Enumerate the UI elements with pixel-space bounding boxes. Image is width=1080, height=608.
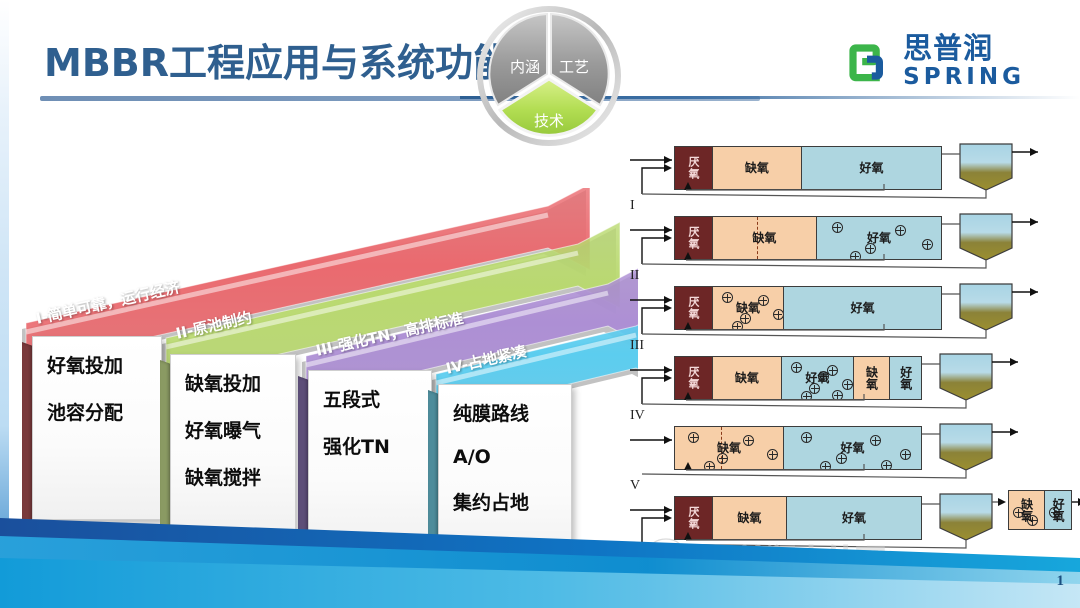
reactor-zone-label: 好氧 [841, 442, 865, 454]
process-row-label: I [630, 198, 635, 214]
reactor-zone-aerobic[interactable]: 好氧 [890, 357, 921, 399]
mbbr-carrier-icon [801, 432, 812, 443]
reactor-zone-label: 缺氧 [745, 162, 769, 174]
mbbr-carrier-icon [743, 435, 754, 446]
card-item: 强化TN [323, 432, 431, 459]
reactor-zone-label: 缺氧 [752, 232, 776, 244]
mbbr-carrier-icon [820, 461, 831, 469]
reactor-zone-anaerobic[interactable]: 厌氧 [675, 357, 713, 399]
mbbr-carrier-icon [773, 309, 784, 320]
reactor-train[interactable]: 厌氧缺氧好氧 [674, 146, 942, 190]
card-item: 池容分配 [47, 398, 161, 425]
mbbr-carrier-icon [688, 432, 699, 443]
mbbr-carrier-icon [732, 321, 743, 329]
spring-logo-icon [843, 38, 891, 86]
mbbr-carrier-icon [922, 239, 933, 250]
reactor-zone-label: 厌氧 [688, 226, 699, 250]
process-row-label: III [630, 338, 644, 354]
process-row-ii: II厌氧缺氧好氧 [628, 272, 1080, 334]
card-item: 缺氧搅拌 [185, 463, 295, 490]
reactor-train[interactable]: 厌氧缺氧好氧 [674, 286, 942, 330]
three-segment-pie-logo: 内涵 工艺 技术 [477, 6, 622, 146]
reactor-zone-anaerobic[interactable]: 厌氧 [675, 217, 713, 259]
mbbr-carrier-icon [900, 449, 911, 460]
mbbr-carrier-icon [832, 222, 843, 233]
reactor-zone-label: 厌氧 [688, 506, 699, 530]
pie-segment-label-neihan: 内涵 [510, 58, 540, 76]
reactor-train[interactable]: 厌氧缺氧好氧 [674, 216, 942, 260]
reactor-zone-anoxic[interactable]: 缺氧 [854, 357, 891, 399]
reactor-zone-label: 好氧 [842, 512, 866, 524]
mbbr-carrier-icon [801, 391, 812, 399]
mbbr-carrier-icon [881, 460, 892, 469]
process-row-iv: IV缺氧好氧 [628, 412, 1080, 474]
card-item: 五段式 [323, 385, 431, 412]
arrow-strategy-group: I-简单可靠，运行经济II-原池制约III-强化TN，高排标准IV-占地紧凑 好… [18, 188, 638, 538]
reactor-zone-anoxic[interactable]: 缺氧 [713, 147, 802, 189]
reactor-zone-aerobic[interactable]: 好氧 [817, 217, 941, 259]
reactor-zone-label: 厌氧 [688, 366, 699, 390]
brand-logo: 思普润 SPRING [843, 34, 1025, 89]
card-item: A/O [453, 446, 571, 468]
reactor-zone-label: 缺氧 [717, 442, 741, 454]
brand-name-en: SPRING [903, 66, 1025, 89]
reactor-zone-label: 好氧 [867, 232, 891, 244]
card-item: 纯膜路线 [453, 399, 571, 426]
reactor-zone-label: 好氧 [860, 162, 884, 174]
reactor-zone-label: 好氧 [900, 366, 912, 390]
process-row-label: IV [630, 408, 645, 424]
reactor-zone-label: 好氧 [805, 372, 829, 384]
reactor-zone-anoxic[interactable]: 缺氧 [675, 427, 784, 469]
reactor-train[interactable]: 缺氧好氧 [674, 426, 922, 470]
page-title: MBBR工程应用与系统功能 [44, 32, 511, 87]
process-row-i: I厌氧缺氧好氧 [628, 202, 1080, 264]
post-unit-label: 好氧 [1052, 498, 1064, 522]
process-row-base: 厌氧缺氧好氧 [628, 132, 1080, 194]
mbbr-carrier-icon [842, 379, 853, 390]
reactor-zone-label: 好氧 [851, 302, 875, 314]
card-item: 好氧曝气 [185, 416, 295, 443]
card-item: 好氧投加 [47, 351, 161, 378]
reactor-zone-label: 缺氧 [865, 366, 877, 390]
reactor-zone-aerobic[interactable]: 好氧 [802, 147, 941, 189]
reactor-zone-aerobic[interactable]: 好氧 [784, 287, 941, 329]
reactor-zone-anoxic[interactable]: 缺氧 [713, 357, 782, 399]
reactor-zone-label: 缺氧 [736, 302, 760, 314]
post-unit-label: 缺氧 [1020, 498, 1032, 522]
brand-name-cn: 思普润 [903, 34, 1025, 63]
reactor-zone-anaerobic[interactable]: 厌氧 [675, 147, 713, 189]
reactor-zone-label: 厌氧 [688, 156, 699, 180]
pie-segment-label-gongyi: 工艺 [559, 58, 589, 76]
reactor-zone-label: 缺氧 [735, 372, 759, 384]
process-row-label: II [630, 268, 639, 284]
pie-segment-label-jishu: 技术 [534, 112, 564, 130]
mbbr-carrier-icon [832, 390, 843, 399]
reactor-zone-anaerobic[interactable]: 厌氧 [675, 287, 713, 329]
mbbr-carrier-icon [895, 225, 906, 236]
reactor-zone-anoxic[interactable]: 缺氧 [713, 217, 817, 259]
process-row-iii: III厌氧缺氧好氧缺氧好氧 [628, 342, 1080, 404]
reactor-zone-label: 厌氧 [688, 296, 699, 320]
reactor-zone-label: 缺氧 [737, 512, 761, 524]
bottom-wave-decoration [0, 488, 1080, 608]
reactor-zone-aerobic[interactable]: 好氧 [782, 357, 853, 399]
reactor-zone-aerobic[interactable]: 好氧 [784, 427, 921, 469]
mbbr-carrier-icon [722, 292, 733, 303]
mbbr-carrier-icon [704, 461, 715, 469]
mbbr-carrier-icon [850, 251, 861, 259]
reactor-zone-anoxic[interactable]: 缺氧 [713, 287, 784, 329]
card-item: 缺氧投加 [185, 369, 295, 396]
reactor-train[interactable]: 厌氧缺氧好氧缺氧好氧 [674, 356, 922, 400]
mbbr-carrier-icon [870, 435, 881, 446]
slide-canvas: MBBR工程应用与系统功能 [0, 0, 1080, 608]
page-number: 1 [1057, 573, 1065, 590]
mbbr-carrier-icon [791, 362, 802, 373]
mbbr-carrier-icon [767, 449, 778, 460]
